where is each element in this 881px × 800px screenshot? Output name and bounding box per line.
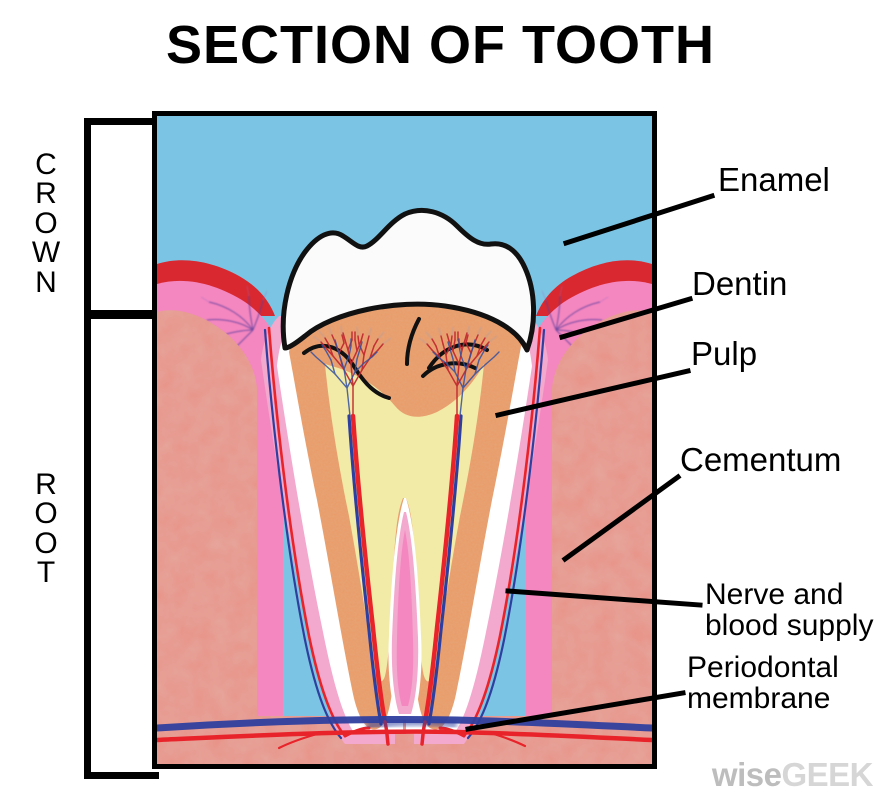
label-root-letter: O: [26, 499, 66, 528]
label-crown: C R O W N: [26, 150, 66, 297]
alveolar-bone-right: [552, 310, 652, 764]
label-crown-letter: O: [26, 209, 66, 238]
watermark-part2: GEEK: [781, 756, 873, 793]
label-periodontal-membrane: Periodontalmembrane: [687, 653, 839, 714]
watermark-part1: wise: [712, 756, 782, 793]
label-nerve-and-blood-supply: Nerve andblood supply: [705, 580, 873, 641]
label-nerve-line2: blood supply: [705, 609, 873, 642]
label-nerve-line1: Nerve and: [705, 578, 843, 611]
label-cementum: Cementum: [680, 443, 841, 477]
label-root: R O O T: [26, 470, 66, 588]
page-title: SECTION OF TOOTH: [0, 18, 881, 72]
tooth-cross-section-diagram: [152, 111, 657, 769]
label-perio-line1: Periodontal: [687, 651, 839, 684]
label-crown-letter: W: [26, 238, 66, 267]
label-root-letter: O: [26, 529, 66, 558]
label-pulp: Pulp: [691, 337, 757, 371]
watermark: wiseGEEK: [712, 756, 873, 794]
label-root-letter: R: [26, 470, 66, 499]
bracket-crown: [84, 118, 159, 317]
label-crown-letter: N: [26, 268, 66, 297]
label-crown-letter: C: [26, 150, 66, 179]
alveolar-bone-left: [157, 310, 257, 764]
tooth-svg: [157, 116, 652, 764]
label-root-letter: T: [26, 558, 66, 587]
bracket-root: [84, 312, 159, 779]
label-perio-line2: membrane: [687, 682, 830, 715]
label-dentin: Dentin: [692, 267, 787, 301]
label-crown-letter: R: [26, 179, 66, 208]
vessel-glow: [367, 721, 457, 726]
label-enamel: Enamel: [718, 163, 830, 197]
